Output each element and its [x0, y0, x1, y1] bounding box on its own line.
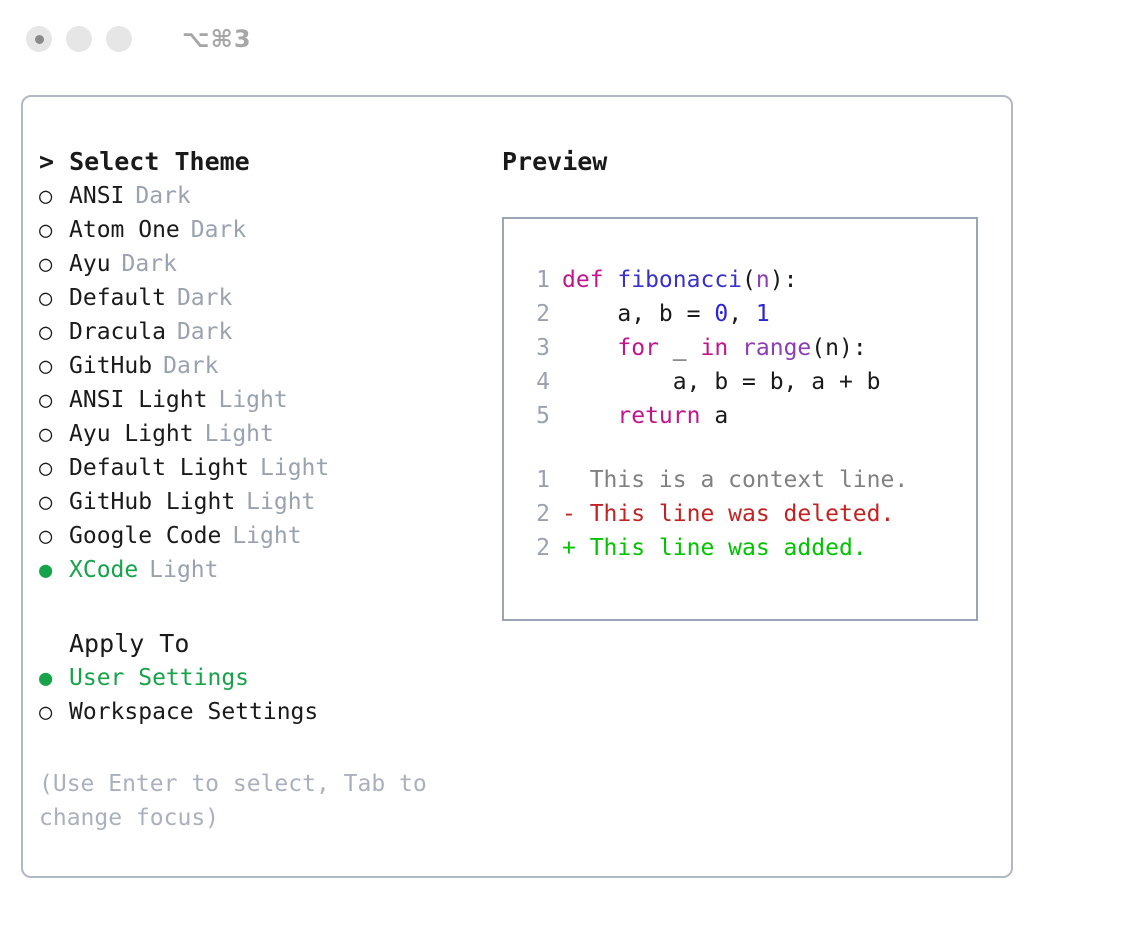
radio-selected-icon: ●: [39, 662, 69, 696]
theme-option-row[interactable]: ●XCodeLight: [39, 553, 479, 587]
code-token: + This line was added.: [562, 535, 867, 561]
option-label: Default: [69, 281, 166, 315]
option-label: GitHub Light: [69, 485, 235, 519]
option-label: ANSI Light: [69, 383, 207, 417]
apply-to-option-row[interactable]: ●User Settings: [39, 661, 479, 695]
code-token: [728, 335, 742, 361]
option-label: Atom One: [69, 213, 180, 247]
radio-unselected-icon: ○: [39, 384, 69, 418]
theme-option-row[interactable]: ○DefaultDark: [39, 281, 479, 315]
line-content: for _ in range(n):: [562, 331, 867, 365]
theme-option-row[interactable]: ○ANSI LightLight: [39, 383, 479, 417]
code-token: a, b =: [562, 301, 714, 327]
option-kind-badge: Light: [218, 383, 287, 417]
radio-unselected-icon: ○: [39, 418, 69, 452]
option-label: Workspace Settings: [69, 695, 318, 729]
select-theme-heading: > Select Theme: [39, 145, 479, 179]
theme-list[interactable]: ○ANSIDark○Atom OneDark○AyuDark○DefaultDa…: [39, 179, 479, 587]
code-token: for: [617, 335, 659, 361]
diff-line: 2+ This line was added.: [522, 531, 976, 565]
theme-option-row[interactable]: ○GitHub LightLight: [39, 485, 479, 519]
theme-option-row[interactable]: ○DraculaDark: [39, 315, 479, 349]
option-kind-badge: Light: [246, 485, 315, 519]
radio-unselected-icon: ○: [39, 486, 69, 520]
line-content: This is a context line.: [562, 463, 908, 497]
line-content: a, b = b, a + b: [562, 365, 881, 399]
title-bar: ⌥⌘3: [0, 0, 1140, 78]
line-number: 5: [522, 399, 550, 433]
line-content: - This line was deleted.: [562, 497, 894, 531]
radio-unselected-icon: ○: [39, 696, 69, 730]
code-token: (: [742, 267, 756, 293]
code-token: _: [659, 335, 701, 361]
line-number: 1: [522, 463, 550, 497]
option-label: Google Code: [69, 519, 221, 553]
radio-unselected-icon: ○: [39, 350, 69, 384]
option-kind-badge: Dark: [163, 349, 218, 383]
code-token: n: [756, 267, 770, 293]
apply-to-option-row[interactable]: ○Workspace Settings: [39, 695, 479, 729]
option-kind-badge: Dark: [177, 315, 232, 349]
theme-option-row[interactable]: ○AyuDark: [39, 247, 479, 281]
theme-picker-panel: > Select Theme ○ANSIDark○Atom OneDark○Ay…: [21, 95, 1013, 878]
keyboard-hint-text: (Use Enter to select, Tab to change focu…: [39, 767, 439, 835]
option-label: ANSI: [69, 179, 124, 213]
line-content: + This line was added.: [562, 531, 867, 565]
radio-unselected-icon: ○: [39, 452, 69, 486]
code-token: def: [562, 267, 617, 293]
option-kind-badge: Dark: [191, 213, 246, 247]
traffic-light-three[interactable]: [106, 26, 132, 52]
radio-unselected-icon: ○: [39, 316, 69, 350]
code-line: 5 return a: [522, 399, 976, 433]
app-window: ⌥⌘3 > Select Theme ○ANSIDark○Atom OneDar…: [0, 0, 1140, 934]
theme-option-row[interactable]: ○Ayu LightLight: [39, 417, 479, 451]
option-label: User Settings: [69, 661, 249, 695]
code-sample: 1def fibonacci(n):2 a, b = 0, 13 for _ i…: [522, 263, 976, 433]
code-token: 0: [714, 301, 728, 327]
line-number: 2: [522, 297, 550, 331]
option-kind-badge: Light: [205, 417, 274, 451]
theme-option-row[interactable]: ○Atom OneDark: [39, 213, 479, 247]
line-content: a, b = 0, 1: [562, 297, 770, 331]
radio-unselected-icon: ○: [39, 520, 69, 554]
option-label: GitHub: [69, 349, 152, 383]
preview-heading: Preview: [502, 145, 992, 179]
code-token: ,: [728, 301, 756, 327]
code-token: a: [700, 403, 728, 429]
theme-option-row[interactable]: ○GitHubDark: [39, 349, 479, 383]
option-label: XCode: [69, 553, 138, 587]
option-kind-badge: Dark: [135, 179, 190, 213]
code-token: in: [700, 335, 728, 361]
traffic-light-active-dot: [35, 35, 44, 44]
theme-option-row[interactable]: ○ANSIDark: [39, 179, 479, 213]
radio-unselected-icon: ○: [39, 214, 69, 248]
code-line: 1def fibonacci(n):: [522, 263, 976, 297]
line-number: 2: [522, 497, 550, 531]
theme-option-row[interactable]: ○Default LightLight: [39, 451, 479, 485]
option-label: Dracula: [69, 315, 166, 349]
diff-line: 2- This line was deleted.: [522, 497, 976, 531]
traffic-light-active[interactable]: [26, 26, 52, 52]
line-number: 1: [522, 263, 550, 297]
option-kind-badge: Light: [260, 451, 329, 485]
option-label: Ayu: [69, 247, 111, 281]
radio-unselected-icon: ○: [39, 248, 69, 282]
radio-selected-icon: ●: [39, 554, 69, 588]
preview-column: Preview 1def fibonacci(n):2 a, b = 0, 13…: [502, 145, 992, 621]
line-content: return a: [562, 399, 728, 433]
code-token: ):: [770, 267, 798, 293]
code-token: a, b = b, a + b: [562, 369, 881, 395]
option-kind-badge: Dark: [122, 247, 177, 281]
traffic-light-two[interactable]: [66, 26, 92, 52]
apply-to-heading: Apply To: [39, 627, 479, 661]
radio-unselected-icon: ○: [39, 180, 69, 214]
theme-list-column: > Select Theme ○ANSIDark○Atom OneDark○Ay…: [39, 145, 479, 835]
option-label: Ayu Light: [69, 417, 194, 451]
code-token: return: [617, 403, 700, 429]
code-token: (n):: [811, 335, 866, 361]
code-token: - This line was deleted.: [562, 501, 894, 527]
theme-option-row[interactable]: ○Google CodeLight: [39, 519, 479, 553]
apply-to-section: Apply To ●User Settings○Workspace Settin…: [39, 627, 479, 729]
option-kind-badge: Dark: [177, 281, 232, 315]
line-number: 2: [522, 531, 550, 565]
code-line: 2 a, b = 0, 1: [522, 297, 976, 331]
code-token: [562, 335, 617, 361]
code-line: 3 for _ in range(n):: [522, 331, 976, 365]
apply-to-list[interactable]: ●User Settings○Workspace Settings: [39, 661, 479, 729]
line-content: def fibonacci(n):: [562, 263, 797, 297]
code-token: [562, 403, 617, 429]
code-token: This is a context line.: [562, 467, 908, 493]
code-token: range: [742, 335, 811, 361]
code-line: 4 a, b = b, a + b: [522, 365, 976, 399]
radio-unselected-icon: ○: [39, 282, 69, 316]
diff-sample: 1 This is a context line.2- This line wa…: [522, 463, 976, 565]
diff-line: 1 This is a context line.: [522, 463, 976, 497]
line-number: 3: [522, 331, 550, 365]
line-number: 4: [522, 365, 550, 399]
code-token: fibonacci: [617, 267, 742, 293]
preview-spacer: [522, 433, 976, 463]
keyboard-shortcut-label: ⌥⌘3: [182, 25, 252, 53]
option-kind-badge: Light: [149, 553, 218, 587]
option-kind-badge: Light: [232, 519, 301, 553]
option-label: Default Light: [69, 451, 249, 485]
code-token: 1: [756, 301, 770, 327]
preview-box: 1def fibonacci(n):2 a, b = 0, 13 for _ i…: [502, 217, 978, 621]
